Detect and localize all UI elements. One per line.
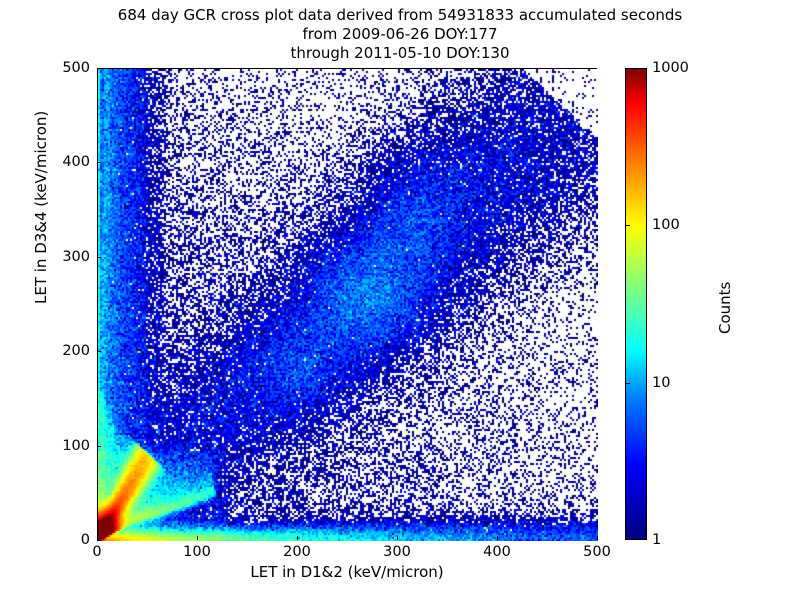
y-tick-label: 100 bbox=[52, 438, 90, 454]
y-tick-label: 200 bbox=[52, 343, 90, 359]
colorbar-tick-mark bbox=[625, 225, 630, 226]
x-tick-mark bbox=[497, 536, 498, 540]
y-tick-mark bbox=[97, 257, 101, 258]
y-tick-mark bbox=[97, 540, 101, 541]
colorbar-label: Counts bbox=[716, 282, 734, 334]
y-tick-label: 300 bbox=[52, 249, 90, 265]
y-tick-label: 0 bbox=[52, 532, 90, 548]
title-line-2: from 2009-06-26 DOY:177 bbox=[0, 25, 800, 44]
x-tick-label: 300 bbox=[383, 544, 411, 560]
colorbar-gradient bbox=[626, 69, 646, 539]
x-tick-mark bbox=[297, 536, 298, 540]
y-tick-mark bbox=[97, 68, 101, 69]
y-tick-mark bbox=[97, 351, 101, 352]
gcr-cross-plot-figure: 684 day GCR cross plot data derived from… bbox=[0, 0, 800, 600]
colorbar-tick-label: 10 bbox=[652, 375, 670, 391]
figure-title: 684 day GCR cross plot data derived from… bbox=[0, 6, 800, 63]
x-tick-label: 100 bbox=[183, 544, 211, 560]
y-tick-mark bbox=[97, 446, 101, 447]
density-heatmap-canvas bbox=[98, 69, 598, 541]
y-tick-mark bbox=[97, 162, 101, 163]
colorbar-tick-label: 1 bbox=[652, 532, 661, 548]
x-tick-label: 500 bbox=[583, 544, 611, 560]
x-tick-mark bbox=[197, 536, 198, 540]
title-line-1: 684 day GCR cross plot data derived from… bbox=[0, 6, 800, 25]
x-tick-label: 200 bbox=[283, 544, 311, 560]
x-tick-label: 0 bbox=[92, 544, 101, 560]
y-tick-label: 400 bbox=[52, 154, 90, 170]
y-axis-label: LET in D3&4 (keV/micron) bbox=[32, 111, 50, 304]
colorbar-tick-mark bbox=[625, 383, 630, 384]
colorbar-tick-label: 1000 bbox=[652, 60, 689, 76]
x-axis-label: LET in D1&2 (keV/micron) bbox=[97, 563, 597, 581]
x-tick-label: 400 bbox=[483, 544, 511, 560]
colorbar-tick-label: 100 bbox=[652, 217, 680, 233]
y-tick-label: 500 bbox=[52, 60, 90, 76]
colorbar bbox=[625, 68, 647, 540]
x-tick-mark bbox=[597, 536, 598, 540]
x-tick-mark bbox=[397, 536, 398, 540]
plot-area bbox=[97, 68, 597, 540]
